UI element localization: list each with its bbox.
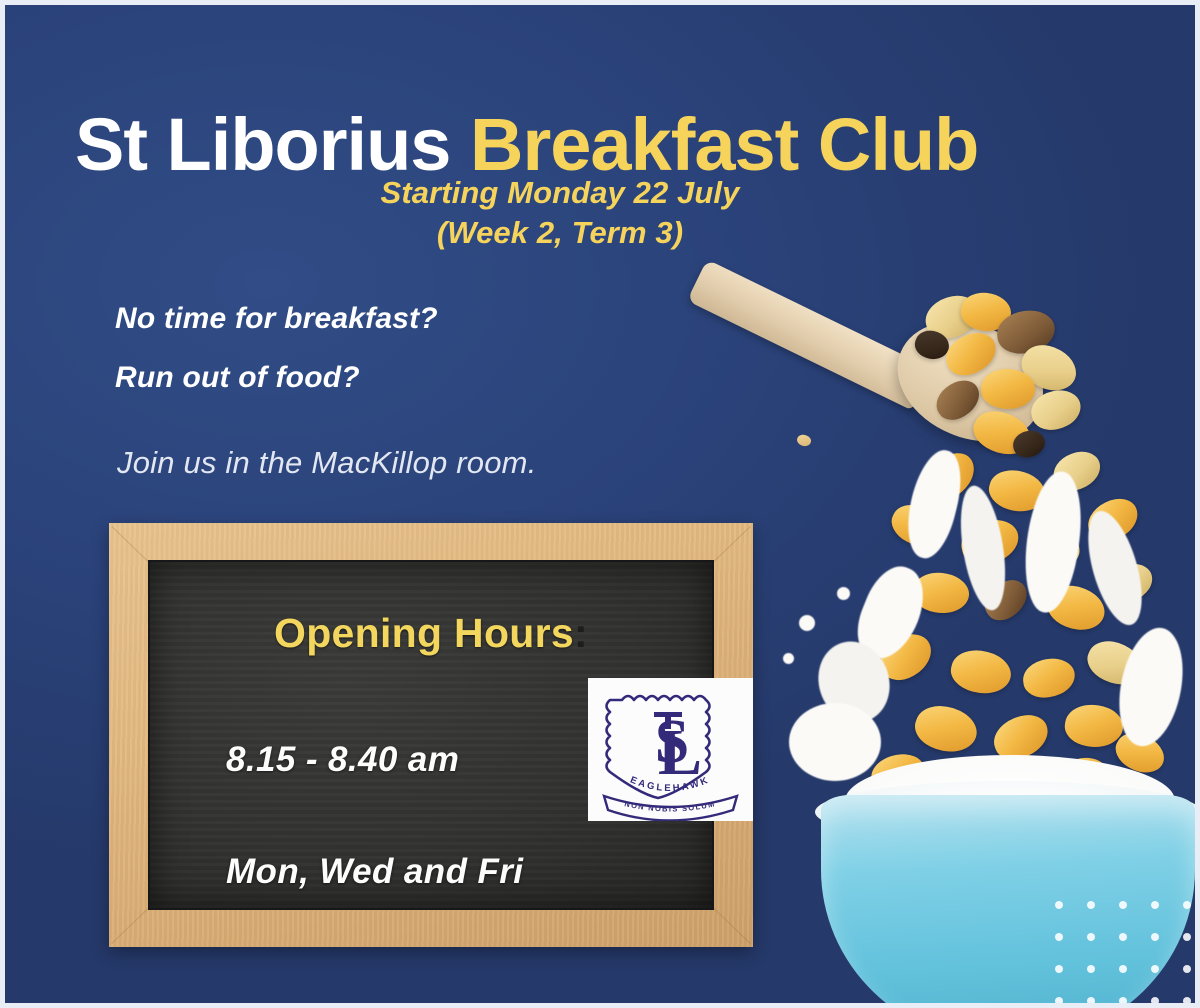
page-title: St Liborius Breakfast Club <box>75 107 1165 184</box>
cereal-flake <box>947 644 1015 699</box>
bowl-perforations <box>1055 901 1195 1007</box>
question-block: No time for breakfast? Run out of food? <box>115 290 438 407</box>
chalkboard-frame: Opening Hours: 8.15 - 8.40 am Mon, Wed a… <box>109 523 753 947</box>
cereal-crumb <box>796 433 813 448</box>
cereal-flake <box>1021 656 1078 701</box>
location-line: Join us in the MacKillop room. <box>117 445 537 481</box>
cereal-photo <box>775 235 1195 1008</box>
opening-hours-days: Mon, Wed and Fri <box>226 852 523 892</box>
milk-droplet <box>799 615 815 631</box>
start-date-line: Starting Monday 22 July <box>5 173 1115 213</box>
opening-hours-time: 8.15 - 8.40 am <box>226 740 459 780</box>
question-no-time: No time for breakfast? <box>115 290 438 349</box>
start-date-subtitle: Starting Monday 22 July (Week 2, Term 3) <box>5 173 1115 254</box>
question-run-out: Run out of food? <box>115 349 438 408</box>
school-crest-logo: S L EAGLEHAWK NON NOBIS SOLUM <box>588 678 753 821</box>
milk-droplet <box>783 653 794 664</box>
poster-canvas: St Liborius Breakfast Club Starting Mond… <box>0 0 1200 1008</box>
milk-splash <box>789 703 881 781</box>
milk-splash <box>1110 622 1192 751</box>
term-week-line: (Week 2, Term 3) <box>5 213 1115 253</box>
chalkboard-surface: Opening Hours: 8.15 - 8.40 am Mon, Wed a… <box>148 560 714 910</box>
opening-hours-colon: : <box>574 610 588 656</box>
cereal-flake <box>910 698 983 759</box>
opening-hours-heading: Opening Hours: <box>150 610 712 657</box>
opening-hours-label: Opening Hours <box>274 610 574 656</box>
milk-droplet <box>837 587 850 600</box>
svg-text:L: L <box>658 716 702 789</box>
